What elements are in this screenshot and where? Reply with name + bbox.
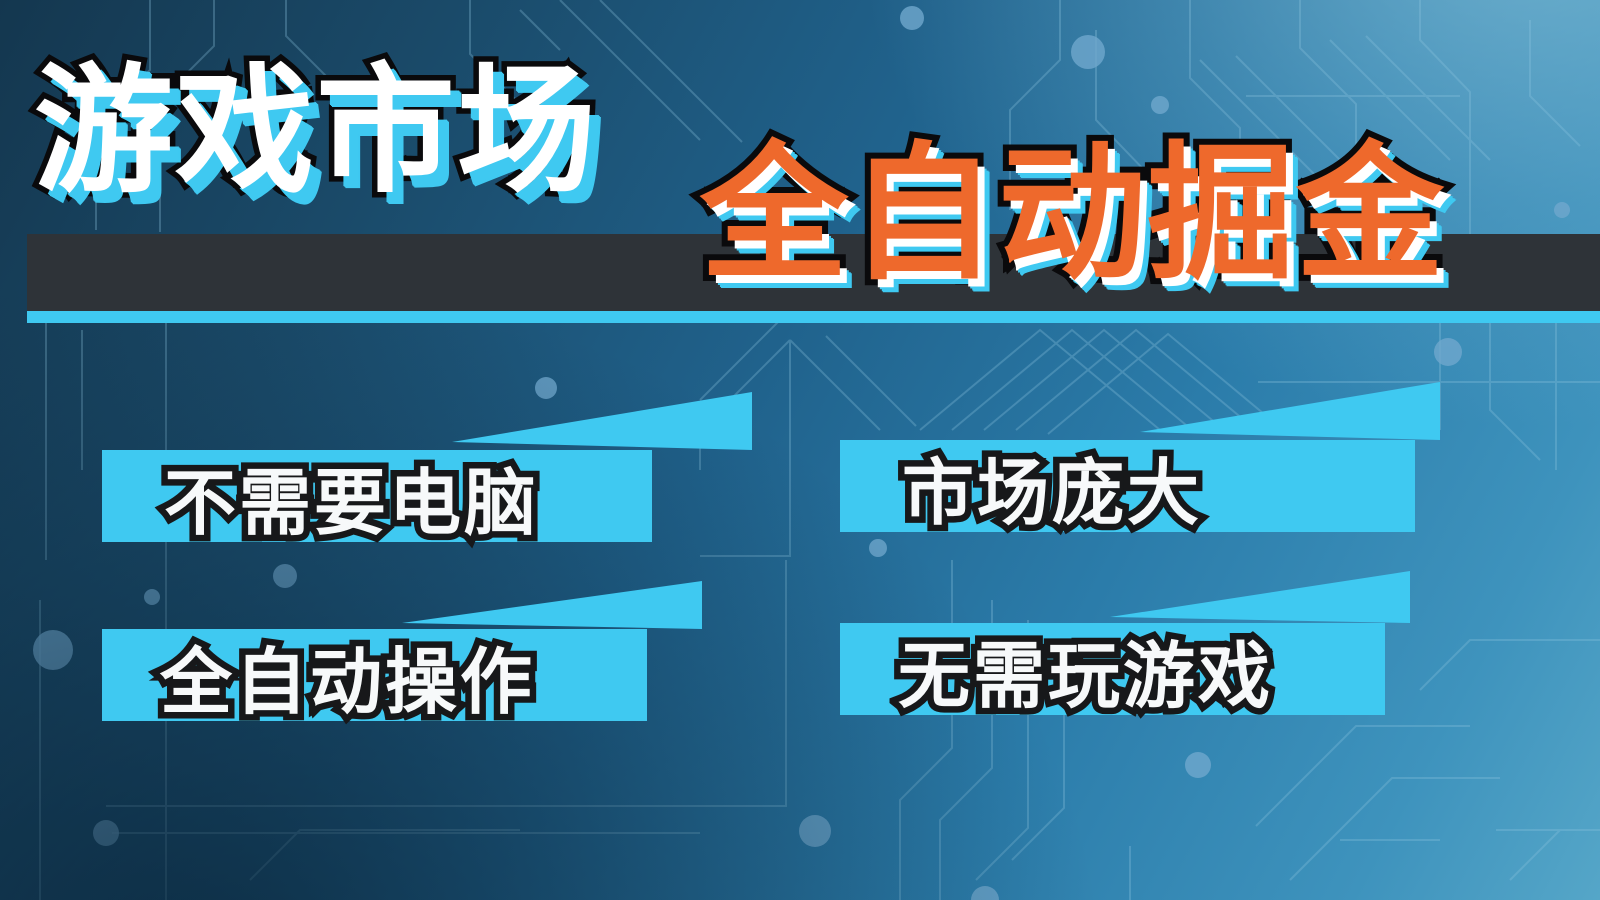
feature-card-2[interactable]: 全自动操作 — [102, 629, 647, 721]
headline-primary: 游戏市场 — [34, 62, 598, 201]
feature-label: 无需玩游戏 — [840, 623, 1443, 715]
headline-secondary: 全自动掘金 — [700, 140, 1445, 288]
poster-canvas: 游戏市场 全自动掘金 不需要电脑 全自动操作 市场庞大 无需玩游戏 — [0, 0, 1600, 900]
feature-card-1[interactable]: 不需要电脑 — [102, 450, 652, 542]
feature-label: 不需要电脑 — [102, 450, 714, 542]
feature-label: 市场庞大 — [840, 440, 1477, 532]
feature-card-4[interactable]: 无需玩游戏 — [840, 623, 1385, 715]
feature-card-3[interactable]: 市场庞大 — [840, 440, 1415, 532]
feature-label: 全自动操作 — [102, 629, 705, 721]
headline-group: 游戏市场 全自动掘金 — [0, 0, 1600, 340]
